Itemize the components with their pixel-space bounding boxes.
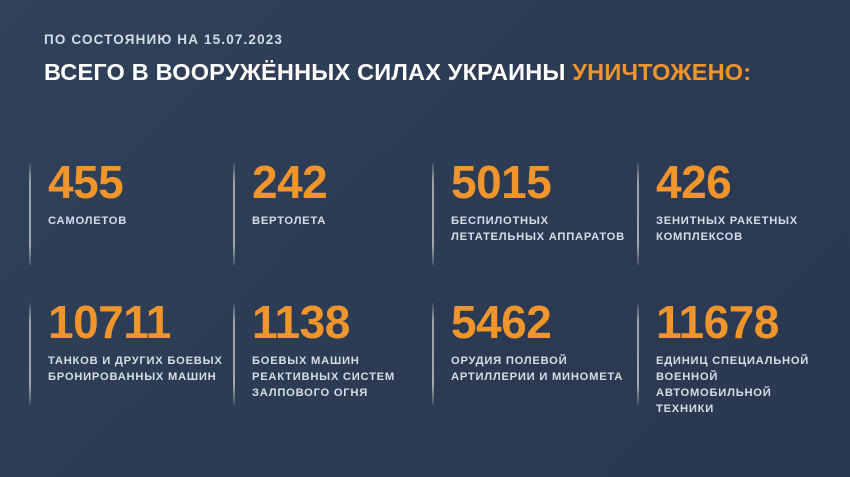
headline-main-text: ВСЕГО В ВООРУЖЁННЫХ СИЛАХ УКРАИНЫ bbox=[44, 59, 572, 85]
stat-value: 1138 bbox=[252, 300, 432, 345]
stat-label: ВЕРТОЛЕТА bbox=[252, 214, 432, 230]
stat-value: 10711 bbox=[48, 300, 233, 345]
stat-label: БОЕВЫХ МАШИН РЕАКТИВНЫХ СИСТЕМ ЗАЛПОВОГО… bbox=[252, 354, 432, 402]
stat-value: 426 bbox=[656, 160, 829, 205]
stat-label: САМОЛЕТОВ bbox=[48, 214, 233, 230]
divider-line bbox=[233, 163, 235, 265]
infographic-poster: ПО СОСТОЯНИЮ НА 15.07.2023 ВСЕГО В ВООРУ… bbox=[0, 0, 850, 477]
divider-line bbox=[637, 163, 639, 265]
stat-cell-tanks: 10711 ТАНКОВ И ДРУГИХ БОЕВЫХ БРОНИРОВАНН… bbox=[29, 300, 233, 440]
stat-cell-military-vehicles: 11678 ЕДИНИЦ СПЕЦИАЛЬНОЙ ВОЕННОЙ АВТОМОБ… bbox=[637, 300, 829, 440]
divider-line bbox=[637, 303, 639, 405]
stat-cell-drones: 5015 БЕСПИЛОТНЫХ ЛЕТАТЕЛЬНЫХ АППАРАТОВ bbox=[432, 160, 637, 300]
divider-line bbox=[29, 163, 31, 265]
stat-value: 11678 bbox=[656, 300, 829, 345]
stat-cell-artillery: 5462 ОРУДИЯ ПОЛЕВОЙ АРТИЛЛЕРИИ И МИНОМЕТ… bbox=[432, 300, 637, 440]
statistics-grid: 455 САМОЛЕТОВ 242 ВЕРТОЛЕТА 5015 БЕСПИЛО… bbox=[29, 160, 829, 440]
stat-cell-air-defense: 426 ЗЕНИТНЫХ РАКЕТНЫХ КОМПЛЕКСОВ bbox=[637, 160, 829, 300]
poster-header: ПО СОСТОЯНИЮ НА 15.07.2023 ВСЕГО В ВООРУ… bbox=[44, 32, 834, 86]
divider-line bbox=[432, 163, 434, 265]
stat-label: ЕДИНИЦ СПЕЦИАЛЬНОЙ ВОЕННОЙ АВТОМОБИЛЬНОЙ… bbox=[656, 354, 829, 418]
divider-line bbox=[432, 303, 434, 405]
headline-accent-text: УНИЧТОЖЕНО: bbox=[572, 59, 751, 85]
stat-cell-mlrs: 1138 БОЕВЫХ МАШИН РЕАКТИВНЫХ СИСТЕМ ЗАЛП… bbox=[233, 300, 432, 440]
divider-line bbox=[29, 303, 31, 405]
divider-line bbox=[233, 303, 235, 405]
page-title: ВСЕГО В ВООРУЖЁННЫХ СИЛАХ УКРАИНЫ УНИЧТО… bbox=[44, 59, 834, 86]
report-date: ПО СОСТОЯНИЮ НА 15.07.2023 bbox=[44, 32, 834, 48]
stat-cell-aircraft: 455 САМОЛЕТОВ bbox=[29, 160, 233, 300]
stat-cell-helicopters: 242 ВЕРТОЛЕТА bbox=[233, 160, 432, 300]
stat-label: ЗЕНИТНЫХ РАКЕТНЫХ КОМПЛЕКСОВ bbox=[656, 214, 829, 246]
stat-value: 5462 bbox=[451, 300, 637, 345]
stat-value: 242 bbox=[252, 160, 432, 205]
stat-value: 455 bbox=[48, 160, 233, 205]
stat-label: ТАНКОВ И ДРУГИХ БОЕВЫХ БРОНИРОВАННЫХ МАШ… bbox=[48, 354, 233, 386]
stat-label: БЕСПИЛОТНЫХ ЛЕТАТЕЛЬНЫХ АППАРАТОВ bbox=[451, 214, 637, 246]
stat-value: 5015 bbox=[451, 160, 637, 205]
stat-label: ОРУДИЯ ПОЛЕВОЙ АРТИЛЛЕРИИ И МИНОМЕТА bbox=[451, 354, 637, 386]
